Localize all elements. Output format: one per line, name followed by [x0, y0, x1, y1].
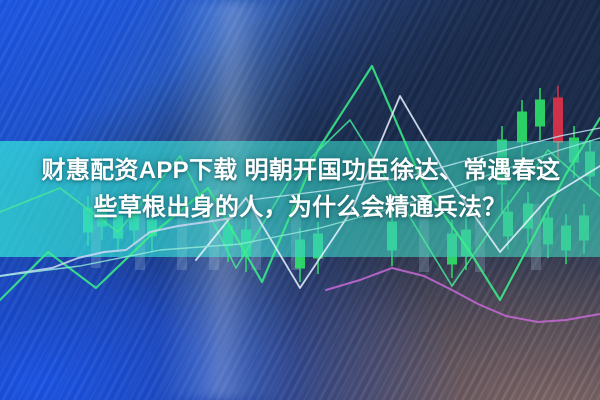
trend-line-magenta-curve — [326, 268, 600, 322]
headline-text: 财惠配资APP下载 明朝开国功臣徐达、常遇春这 些草根出身的人，为什么会精通兵法… — [0, 152, 600, 226]
banner-image: 财惠配资APP下载 明朝开国功臣徐达、常遇春这 些草根出身的人，为什么会精通兵法… — [0, 0, 600, 400]
headline-line-1: 财惠配资APP下载 明朝开国功臣徐达、常遇春这 — [0, 152, 600, 189]
headline-line-2: 些草根出身的人，为什么会精通兵法？ — [0, 189, 600, 226]
